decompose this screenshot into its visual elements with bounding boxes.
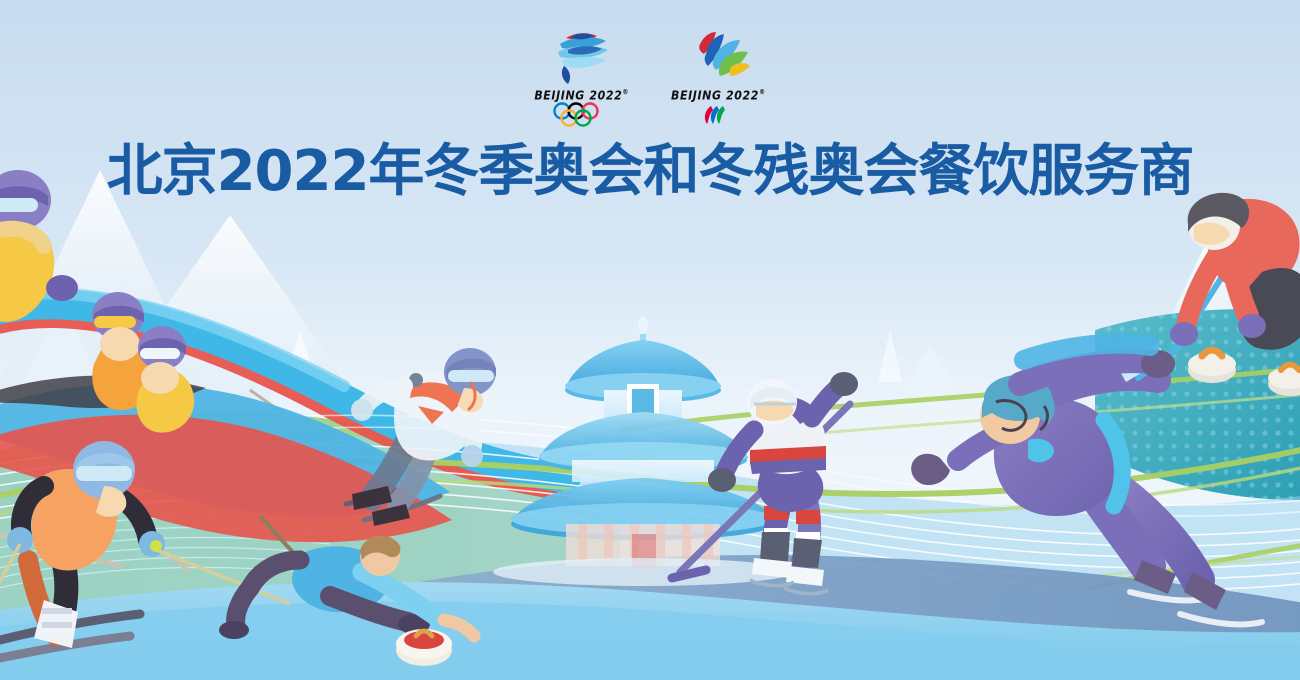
ice-hockey-player	[672, 372, 858, 594]
paralympic-wordmark: BEIJING 2022®	[671, 88, 766, 103]
speed-skater	[911, 375, 1262, 624]
paralympic-agitos	[687, 102, 749, 128]
olympics-catering-banner: BEIJING 2022® BE	[0, 0, 1300, 680]
curling-stone	[1268, 365, 1300, 397]
beijing-2022-paralympic-emblem	[678, 28, 758, 86]
olympic-rings	[551, 102, 613, 128]
beijing-2022-olympic-emblem	[542, 28, 622, 86]
bobsleigh-athlete-3	[137, 326, 195, 433]
curling-stone	[1188, 350, 1236, 383]
olympic-logo: BEIJING 2022®	[534, 28, 629, 128]
logo-row: BEIJING 2022® BE	[0, 28, 1300, 128]
olympic-wordmark: BEIJING 2022®	[534, 88, 629, 103]
curler-sweeping	[1020, 193, 1300, 396]
page-title: 北京2022年冬季奥会和冬残奥会餐饮服务商	[0, 143, 1300, 201]
paralympic-logo: BEIJING 2022®	[671, 28, 766, 128]
